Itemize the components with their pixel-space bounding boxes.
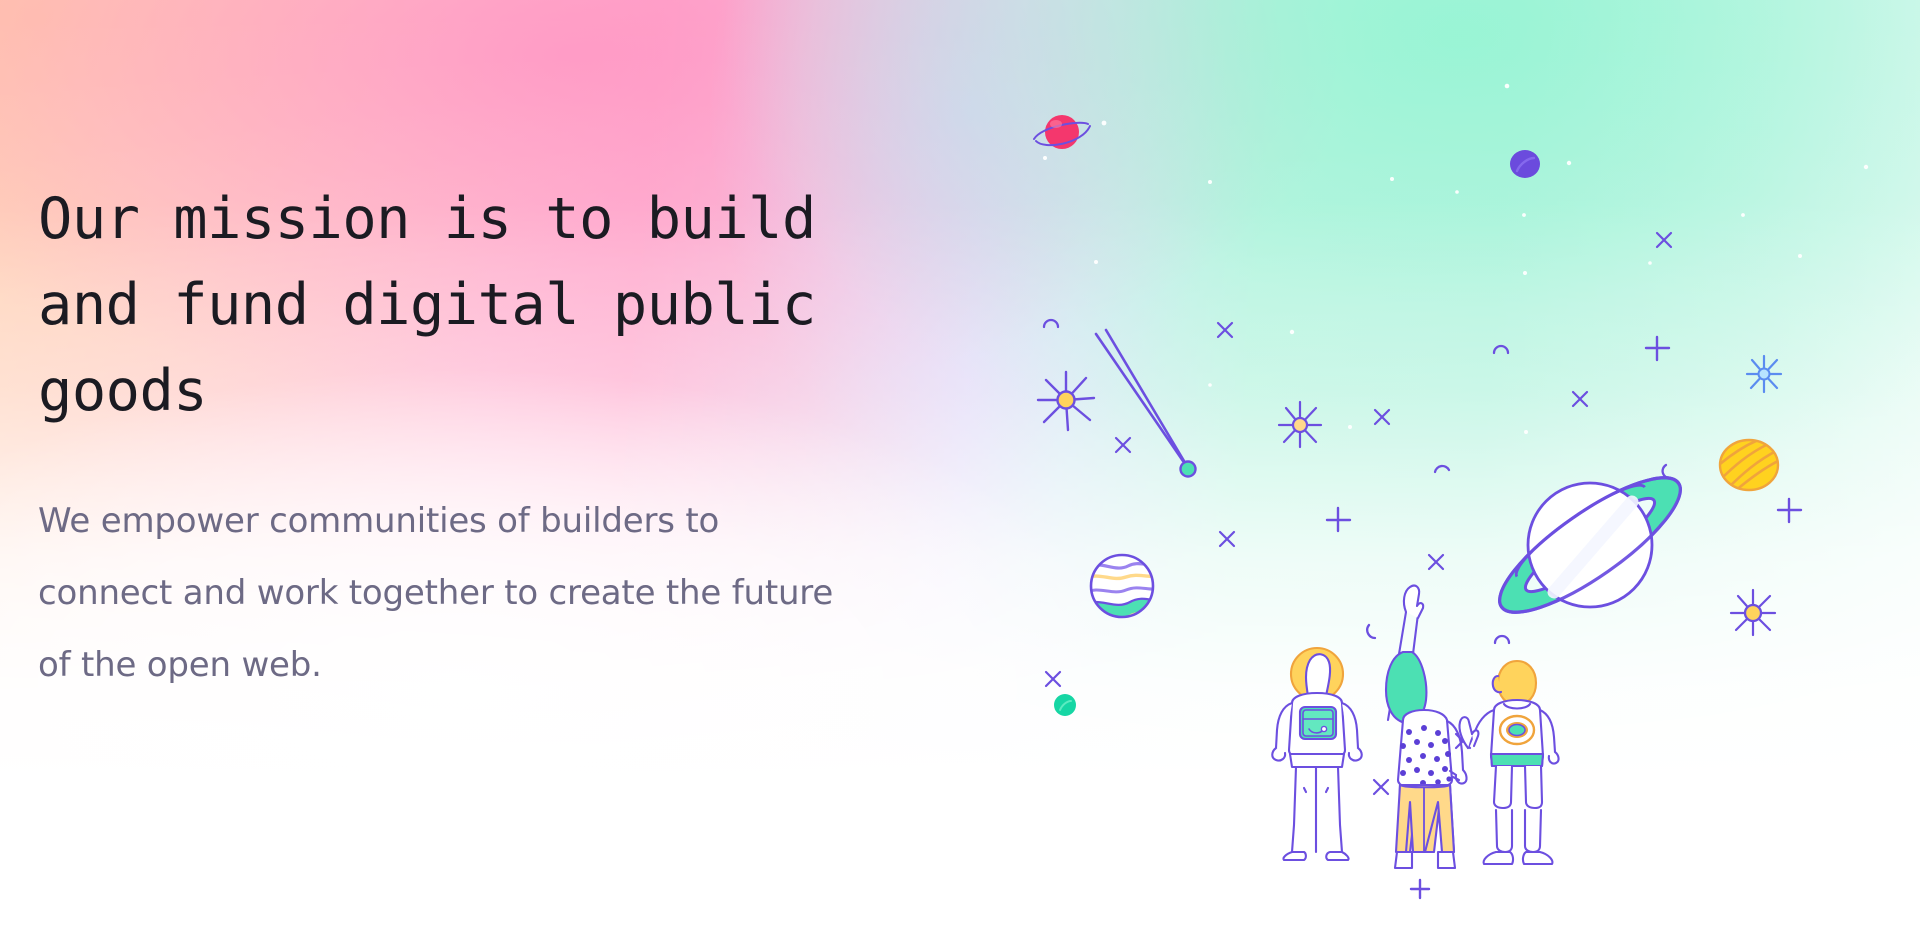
hero-copy-block: Our mission is to build and fund digital…	[38, 176, 868, 701]
page-title: Our mission is to build and fund digital…	[38, 176, 848, 434]
hero-section: Our mission is to build and fund digital…	[0, 0, 1920, 929]
hero-description: We empower communities of builders to co…	[38, 485, 838, 701]
